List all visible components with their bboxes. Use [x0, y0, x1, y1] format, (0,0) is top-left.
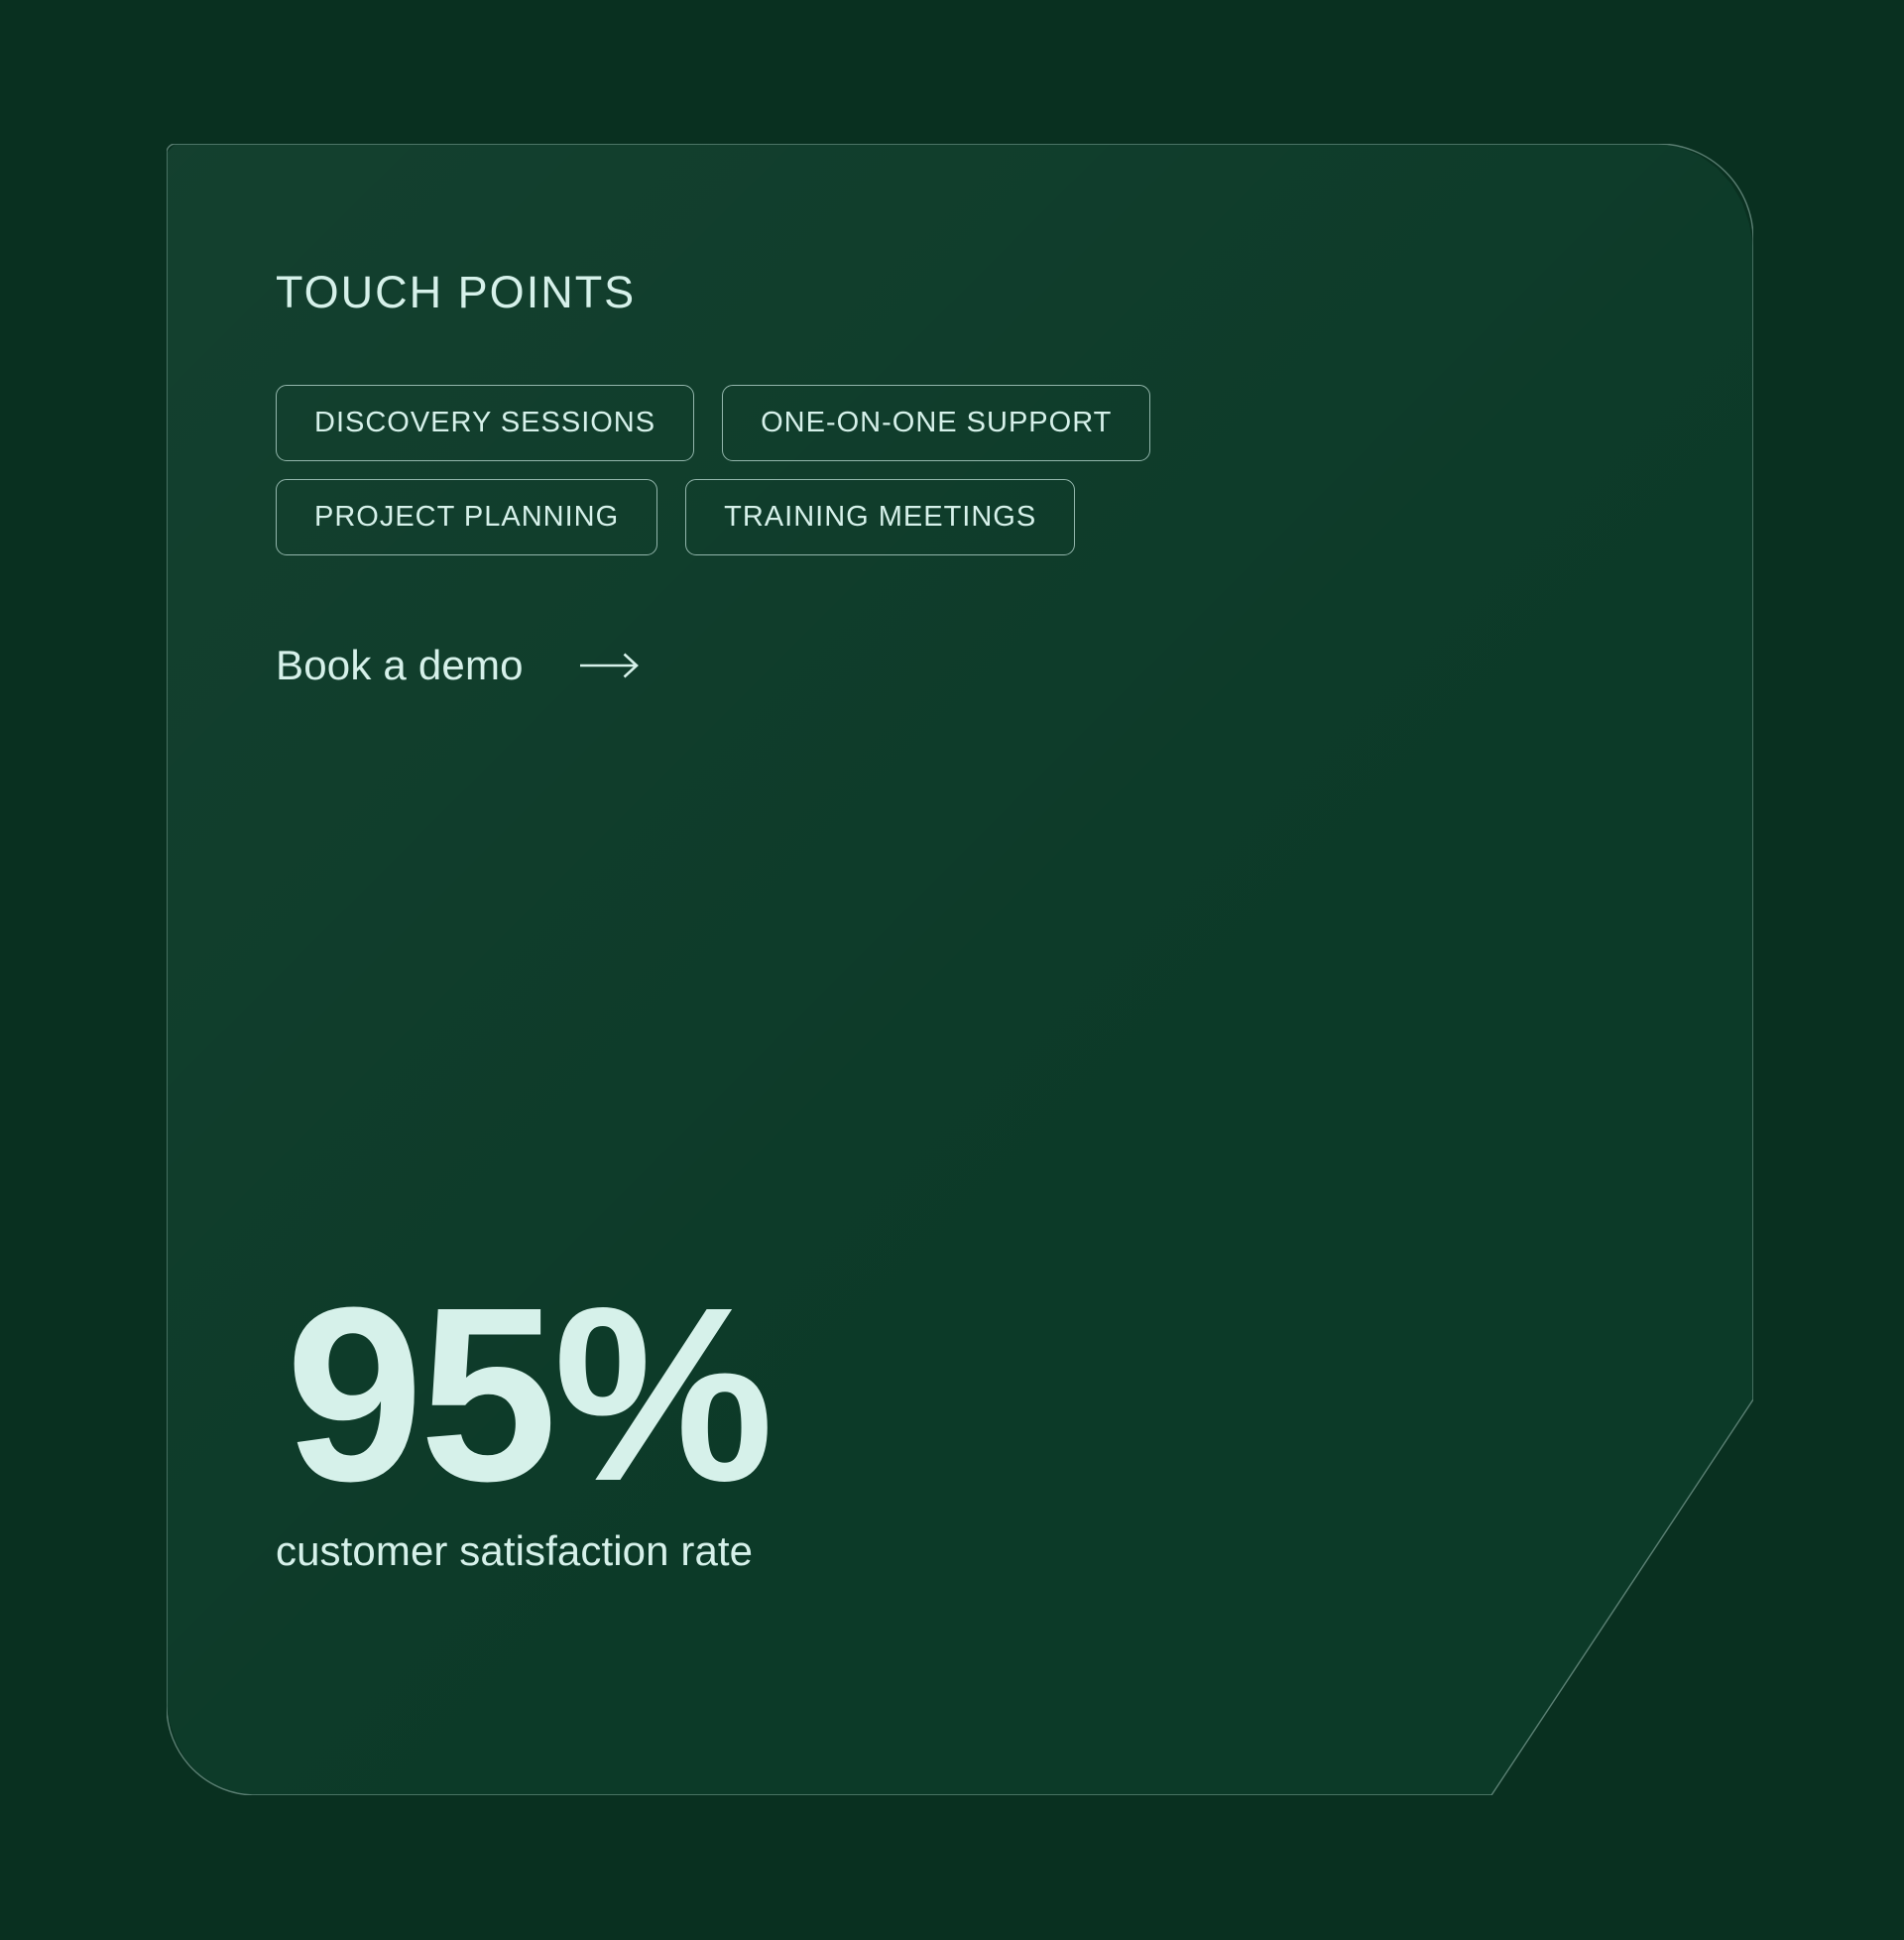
page-root: TOUCH POINTS DISCOVERY SESSIONS ONE-ON-O…: [0, 0, 1904, 1940]
tag-row-1: DISCOVERY SESSIONS ONE-ON-ONE SUPPORT: [276, 385, 1367, 461]
tag-row-2: PROJECT PLANNING TRAINING MEETINGS: [276, 479, 1367, 555]
page-title: TOUCH POINTS: [276, 267, 636, 318]
arrow-right-icon: [579, 651, 641, 680]
tag-training-meetings[interactable]: TRAINING MEETINGS: [685, 479, 1075, 555]
tag-project-planning[interactable]: PROJECT PLANNING: [276, 479, 657, 555]
tag-discovery-sessions[interactable]: DISCOVERY SESSIONS: [276, 385, 694, 461]
tag-one-on-one-support[interactable]: ONE-ON-ONE SUPPORT: [722, 385, 1150, 461]
book-a-demo-label: Book a demo: [276, 642, 524, 689]
book-a-demo-link[interactable]: Book a demo: [276, 642, 641, 689]
card-content: TOUCH POINTS DISCOVERY SESSIONS ONE-ON-O…: [276, 144, 1684, 1795]
stat-caption: customer satisfaction rate: [276, 1527, 1168, 1575]
touch-point-tag-list: DISCOVERY SESSIONS ONE-ON-ONE SUPPORT PR…: [276, 385, 1367, 573]
touch-points-card: TOUCH POINTS DISCOVERY SESSIONS ONE-ON-O…: [167, 144, 1753, 1795]
stat-value: 95%: [286, 1275, 1168, 1514]
stat-block: 95% customer satisfaction rate: [276, 1275, 1168, 1575]
